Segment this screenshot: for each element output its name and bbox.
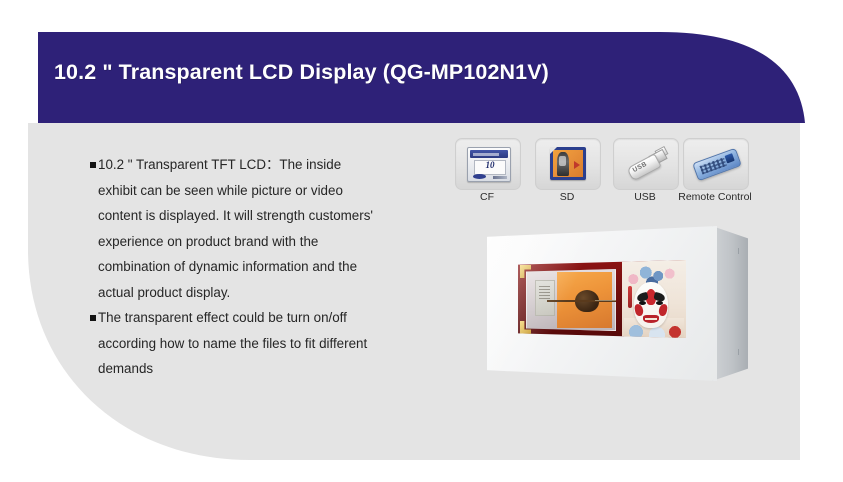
cf-card-tile: 10 xyxy=(455,138,521,190)
usb-flash-drive-icon: USB xyxy=(626,146,666,182)
bullet-line-text: combination of dynamic information and t… xyxy=(98,254,420,280)
usb-tile: USB xyxy=(613,138,679,190)
square-bullet-icon xyxy=(90,315,96,321)
mask-tassel xyxy=(628,286,632,308)
feature-description: 10.2 " Transparent TFT LCD：The inside ex… xyxy=(90,152,420,382)
bullet-item: 10.2 " Transparent TFT LCD：The inside ex… xyxy=(90,152,420,305)
cf-capacity-label: 10 xyxy=(475,160,505,170)
product-case-side-panel xyxy=(712,226,748,381)
media-icon-label-sd: SD xyxy=(535,191,599,203)
product-photo xyxy=(487,226,787,381)
bullet-line-text: 10.2 " Transparent TFT LCD：The inside xyxy=(98,157,341,172)
remote-control-tile xyxy=(683,138,749,190)
bullet-line-text: The transparent effect could be turn on/… xyxy=(98,310,347,325)
bullet-line-text: according how to name the files to fit d… xyxy=(98,331,420,357)
bullet-line-text: exhibit can be seen while picture or vid… xyxy=(98,178,420,204)
compact-flash-card-icon: 10 xyxy=(467,147,511,182)
remote-control-icon xyxy=(694,146,740,182)
transparent-exhibit-window xyxy=(526,269,616,331)
media-icon-label-remote: Remote Control xyxy=(660,191,770,203)
bullet-line-text: demands xyxy=(98,356,420,382)
bullet-line-text: actual product display. xyxy=(98,280,420,306)
bullet-line-text: experience on product brand with the xyxy=(98,229,420,255)
bullet-line-text: content is displayed. It will strength c… xyxy=(98,203,420,229)
product-case-front xyxy=(487,226,717,381)
opera-mask-graphic xyxy=(622,260,686,338)
transparent-lcd-screen xyxy=(518,260,686,338)
mask-face xyxy=(634,282,668,328)
media-icon-label-cf: CF xyxy=(455,191,519,203)
sd-card-tile xyxy=(535,138,601,190)
sd-card-icon xyxy=(550,147,586,180)
page-title: 10.2 " Transparent LCD Display (QG-MP102… xyxy=(54,60,549,85)
square-bullet-icon xyxy=(90,162,96,168)
bullet-item: The transparent effect could be turn on/… xyxy=(90,305,420,382)
slide: 10.2 " Transparent LCD Display (QG-MP102… xyxy=(0,0,843,482)
usb-badge-text: USB xyxy=(632,161,649,174)
